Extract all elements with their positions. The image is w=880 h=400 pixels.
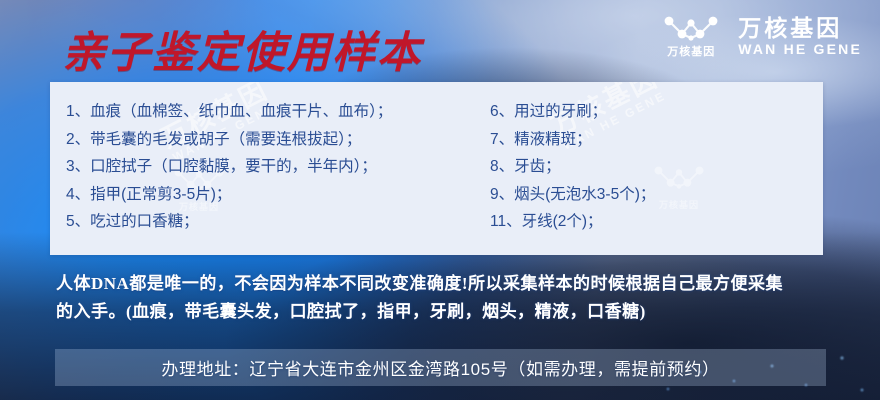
list-item: 4、 指甲(正常剪3-5片)； [66, 181, 480, 209]
list-item-number: 5、 [66, 208, 90, 236]
list-item-number: 6、 [490, 98, 514, 126]
explanatory-note: 人体DNA都是唯一的，不会因为样本不同改变准确度!所以采集样本的时候根据自己最方… [56, 270, 846, 326]
list-item-label: 牙齿； [514, 153, 561, 181]
list-item-number: 1、 [66, 98, 90, 126]
list-item-label: 口腔拭子（口腔黏膜，要干的，半年内）； [90, 153, 377, 181]
list-item-label: 带毛囊的毛发或胡子（需要连根拔起）； [90, 126, 361, 154]
list-item: 1、 血痕（血棉签、纸巾血、血痕干片、血布）； [66, 98, 480, 126]
brand-name-cn: 万核基因 [738, 16, 842, 40]
list-item-number: 11、 [490, 208, 522, 236]
brand-name-en: WAN HE GENE [738, 42, 862, 56]
sample-columns: 1、 血痕（血棉签、纸巾血、血痕干片、血布）； 2、 带毛囊的毛发或胡子（需要连… [50, 82, 823, 255]
list-item: 6、 用过的牙刷； [490, 98, 823, 126]
list-item-number: 9、 [490, 181, 514, 209]
explanatory-note-line-2: 的入手。(血痕，带毛囊头发，口腔拭了，指甲，牙刷，烟头，精液，口香糖) [56, 298, 846, 326]
address-band: 办理地址：辽宁省大连市金州区金湾路105号（如需办理，需提前预约） [55, 349, 826, 386]
list-item-number: 2、 [66, 126, 90, 154]
dna-molecule-icon [660, 14, 722, 44]
list-item-label: 用过的牙刷； [514, 98, 607, 126]
list-item-number: 7、 [490, 126, 514, 154]
explanatory-note-line-1: 人体DNA都是唯一的，不会因为样本不同改变准确度!所以采集样本的时候根据自己最方… [56, 270, 846, 298]
list-item-number: 4、 [66, 181, 90, 209]
page-title: 亲子鉴定使用样本 [62, 18, 422, 80]
poster-root: 亲子鉴定使用样本 [0, 0, 880, 400]
sample-column-left: 1、 血痕（血棉签、纸巾血、血痕干片、血布）； 2、 带毛囊的毛发或胡子（需要连… [50, 98, 480, 255]
brand-lockup: 万核基因 万核基因 WAN HE GENE [660, 14, 862, 58]
list-item-label: 吃过的口香糖； [90, 208, 199, 236]
list-item: 7、 精液精斑； [490, 126, 823, 154]
list-item: 5、 吃过的口香糖； [66, 208, 480, 236]
list-item-label: 指甲(正常剪3-5片)； [90, 181, 231, 209]
list-item: 3、 口腔拭子（口腔黏膜，要干的，半年内）； [66, 153, 480, 181]
list-item: 8、 牙齿； [490, 153, 823, 181]
sample-column-right: 6、 用过的牙刷； 7、 精液精斑； 8、 牙齿； 9、 烟头(无泡水3-5个)… [480, 98, 823, 255]
list-item: 9、 烟头(无泡水3-5个)； [490, 181, 823, 209]
list-item-label: 精液精斑； [514, 126, 592, 154]
brand-logo-caption: 万核基因 [667, 47, 715, 58]
list-item-label: 牙线(2个)； [522, 208, 603, 236]
brand-name-block: 万核基因 WAN HE GENE [738, 16, 862, 56]
list-item: 2、 带毛囊的毛发或胡子（需要连根拔起）； [66, 126, 480, 154]
sample-list-panel: 万核基因 WAN HE GENE 万核基因 WAN HE GENE [50, 82, 823, 255]
list-item: 11、 牙线(2个)； [490, 208, 823, 236]
list-item-label: 烟头(无泡水3-5个)； [514, 181, 655, 209]
list-item-number: 3、 [66, 153, 90, 181]
brand-logo: 万核基因 [660, 14, 722, 58]
list-item-number: 8、 [490, 153, 514, 181]
address-text: 办理地址：辽宁省大连市金州区金湾路105号（如需办理，需提前预约） [161, 355, 719, 380]
list-item-label: 血痕（血棉签、纸巾血、血痕干片、血布）； [90, 98, 392, 126]
